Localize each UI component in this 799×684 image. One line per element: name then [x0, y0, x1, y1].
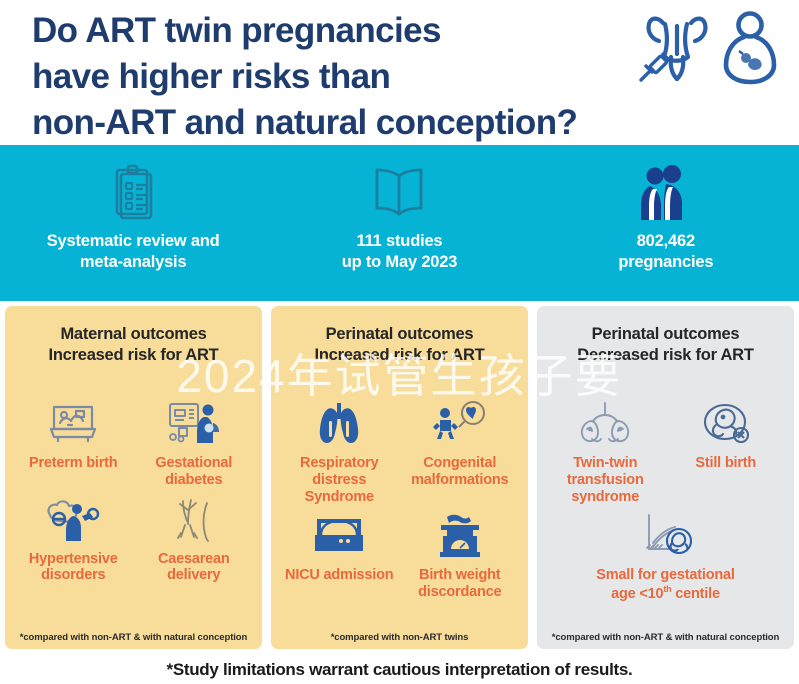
panel-title-perinatal-increased: Perinatal outcomes Increased risk for AR… — [279, 324, 520, 367]
outcome-nicu-admission: NICU admission — [279, 509, 400, 601]
outcome-label-congenital-malformations: Congenital malformations — [411, 455, 508, 489]
outcome-label-small-for-gestational-age: Small for gestational age <10th centile — [596, 567, 734, 602]
outcome-label-preterm-birth: Preterm birth — [29, 455, 117, 472]
outcome-twin-twin-transfusion-syndrome: Twin-twin transfusion syndrome — [545, 397, 666, 505]
outcome-birth-weight-discordance: Birth weight discordance — [400, 509, 521, 601]
infographic-root: Do ART twin pregnancies have higher risk… — [0, 0, 799, 684]
caesarean-scar-icon — [171, 493, 217, 545]
outcome-small-for-gestational-age: Small for gestational age <10th centile — [545, 509, 786, 602]
incubator-preterm-icon — [46, 397, 100, 449]
outcome-grid-perinatal-increased: Respiratory distress Syndrome — [279, 371, 520, 632]
stat-label-studies-count: 111 studies up to May 2023 — [342, 231, 458, 272]
blood-pressure-pregnant-icon — [42, 493, 104, 545]
panel-note-perinatal-decreased: *compared with non-ART & with natural co… — [545, 632, 786, 649]
outcome-label-hypertensive-disorders: Hypertensive disorders — [29, 551, 118, 585]
outcome-label-nicu-admission: NICU admission — [285, 567, 393, 584]
header: Do ART twin pregnancies have higher risk… — [0, 0, 799, 145]
stat-item-systematic-review: Systematic review and meta-analysis — [0, 145, 266, 272]
page-title-line-2: have higher risks than — [32, 54, 577, 100]
growth-chart-fetus-icon — [635, 509, 697, 561]
stat-item-studies-count: 111 studies up to May 2023 — [266, 145, 532, 272]
outcome-label-birth-weight-discordance: Birth weight discordance — [418, 567, 501, 601]
panel-title-maternal: Maternal outcomes Increased risk for ART — [13, 324, 254, 367]
stat-label-pregnancies-count: 802,462 pregnancies — [618, 231, 713, 272]
fetus-cross-icon — [699, 397, 753, 449]
baby-heart-magnifier-icon — [431, 397, 489, 449]
outcome-preterm-birth: Preterm birth — [13, 397, 134, 489]
open-book-icon — [368, 161, 430, 223]
glucose-monitor-pregnant-icon — [165, 397, 223, 449]
outcome-still-birth: Still birth — [666, 397, 787, 505]
nicu-incubator-icon — [311, 509, 367, 561]
page-title: Do ART twin pregnancies have higher risk… — [32, 4, 577, 147]
outcome-caesarean-delivery: Caesarean delivery — [134, 493, 255, 585]
stat-label-systematic-review: Systematic review and meta-analysis — [47, 231, 220, 272]
outcome-grid-perinatal-decreased: Twin-twin transfusion syndrome — [545, 371, 786, 632]
panel-note-maternal: *compared with non-ART & with natural co… — [13, 632, 254, 649]
two-pregnant-people-icon — [638, 161, 694, 223]
outcome-hypertensive-disorders: Hypertensive disorders — [13, 493, 134, 585]
stats-band: Systematic review and meta-analysis 111 — [0, 145, 799, 301]
clipboard-checklist-icon — [108, 161, 158, 223]
outcome-label-still-birth: Still birth — [695, 455, 756, 472]
panel-maternal-outcomes: Maternal outcomes Increased risk for ART — [5, 306, 262, 649]
page-title-line-1: Do ART twin pregnancies — [32, 8, 577, 54]
uterus-syringe-icon — [633, 10, 715, 93]
outcome-respiratory-distress-syndrome: Respiratory distress Syndrome — [279, 397, 400, 505]
panel-title-perinatal-decreased: Perinatal outcomes Decreased risk for AR… — [545, 324, 786, 367]
outcome-label-respiratory-distress-syndrome: Respiratory distress Syndrome — [281, 455, 398, 505]
footer-disclaimer: *Study limitations warrant cautious inte… — [167, 660, 633, 680]
footer: *Study limitations warrant cautious inte… — [0, 655, 799, 684]
twin-fetuses-shared-placenta-icon — [573, 397, 637, 449]
outcome-congenital-malformations: Congenital malformations — [400, 397, 521, 505]
outcome-grid-maternal: Preterm birth — [13, 371, 254, 632]
outcome-label-caesarean-delivery: Caesarean delivery — [158, 551, 230, 585]
panel-perinatal-decreased: Perinatal outcomes Decreased risk for AR… — [537, 306, 794, 649]
panel-note-perinatal-increased: *compared with non-ART twins — [279, 632, 520, 649]
baby-weighing-scale-icon — [435, 509, 485, 561]
page-title-line-3: non-ART and natural conception? — [32, 100, 577, 146]
lungs-icon — [313, 397, 365, 449]
outcome-panels: Maternal outcomes Increased risk for ART — [0, 306, 799, 649]
outcome-label-gestational-diabetes: Gestational diabetes — [155, 455, 232, 489]
outcome-label-twin-twin-transfusion-syndrome: Twin-twin transfusion syndrome — [567, 455, 644, 505]
pregnant-woman-icon — [721, 10, 779, 93]
outcome-gestational-diabetes: Gestational diabetes — [134, 397, 255, 489]
superscript-th: th — [663, 584, 671, 594]
panel-perinatal-increased: Perinatal outcomes Increased risk for AR… — [271, 306, 528, 649]
header-icon-group — [633, 4, 779, 93]
stat-item-pregnancies-count: 802,462 pregnancies — [533, 145, 799, 272]
